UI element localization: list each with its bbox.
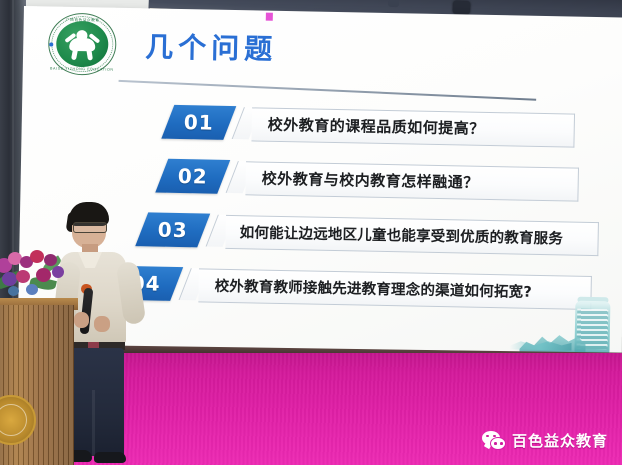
question-number-02: 02 [161, 159, 224, 194]
title-divider [119, 80, 537, 101]
question-text-01: 校外教育的课程品质如何提高？ [267, 107, 485, 145]
watermark-text: 百色益众教育 [512, 430, 608, 451]
ceiling-light-secondary-icon [388, 0, 399, 7]
wechat-icon [482, 431, 506, 450]
question-text-02: 校外教育与校内教育怎样融通？ [261, 161, 479, 199]
school-logo: 广西百色益众教育 BAISE YIZHONG EDUCATION [48, 12, 117, 75]
flower-arrangement [0, 248, 80, 310]
question-text-03: 如何能让边远地区儿童也能享受到优质的教育服务 [239, 214, 563, 254]
question-number-03: 03 [141, 212, 204, 247]
ceiling-light-icon [453, 1, 471, 15]
logo-bottom-text: BAISE YIZHONG EDUCATION [48, 66, 116, 71]
blue-pixel-artifact [49, 42, 53, 46]
screenshot-root: 广西百色益众教育 BAISE YIZHONG EDUCATION 几个问题 01 [0, 0, 622, 465]
slide-title: 几个问题 [145, 25, 278, 68]
pink-pixel-artifact [266, 13, 273, 21]
watermark: 百色益众教育 [476, 427, 614, 453]
question-row-02: 02 校外教育与校内教育怎样融通？ [161, 159, 162, 195]
question-text-04: 校外教育教师接触先进教育理念的渠道如何拓宽? [214, 268, 532, 308]
glasses-icon [73, 222, 107, 233]
logo-child-figure-icon [65, 30, 100, 61]
question-row-01: 01 校外教育的课程品质如何提高？ [167, 105, 168, 141]
question-number-01: 01 [167, 105, 230, 140]
